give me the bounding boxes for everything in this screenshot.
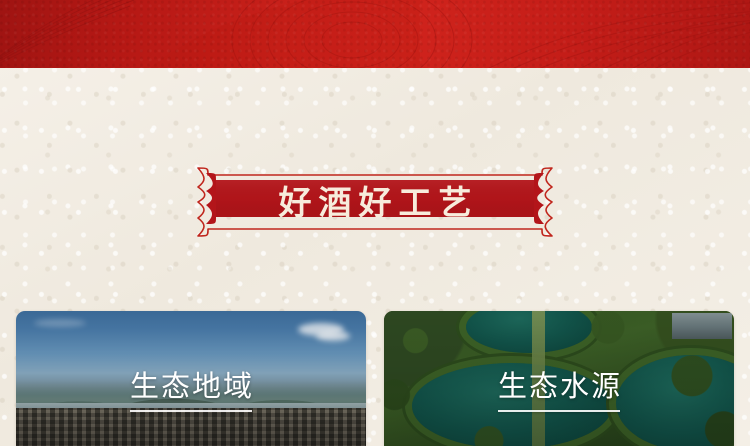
section-title-plaque: 好酒好工艺 (172, 163, 578, 241)
card-title-underline (130, 410, 252, 412)
photo-building (672, 313, 732, 339)
feature-card-ecological-water-source[interactable]: 生态水源 (384, 311, 734, 446)
card-title-underline (498, 410, 620, 412)
ecological-water-source-caption: 生态水源 (384, 371, 734, 412)
promo-page: 好酒好工艺 生态地域 (0, 0, 750, 446)
card-title-text: 生态地域 (16, 371, 366, 401)
section-title-text: 好酒好工艺 (172, 163, 578, 241)
header-banner (0, 0, 750, 68)
header-grain-texture (0, 0, 750, 68)
card-title-text: 生态水源 (384, 371, 734, 401)
ecological-region-caption: 生态地域 (16, 371, 366, 412)
feature-card-ecological-region[interactable]: 生态地域 (16, 311, 366, 446)
feature-card-row: 生态地域 生态水源 (16, 311, 734, 446)
